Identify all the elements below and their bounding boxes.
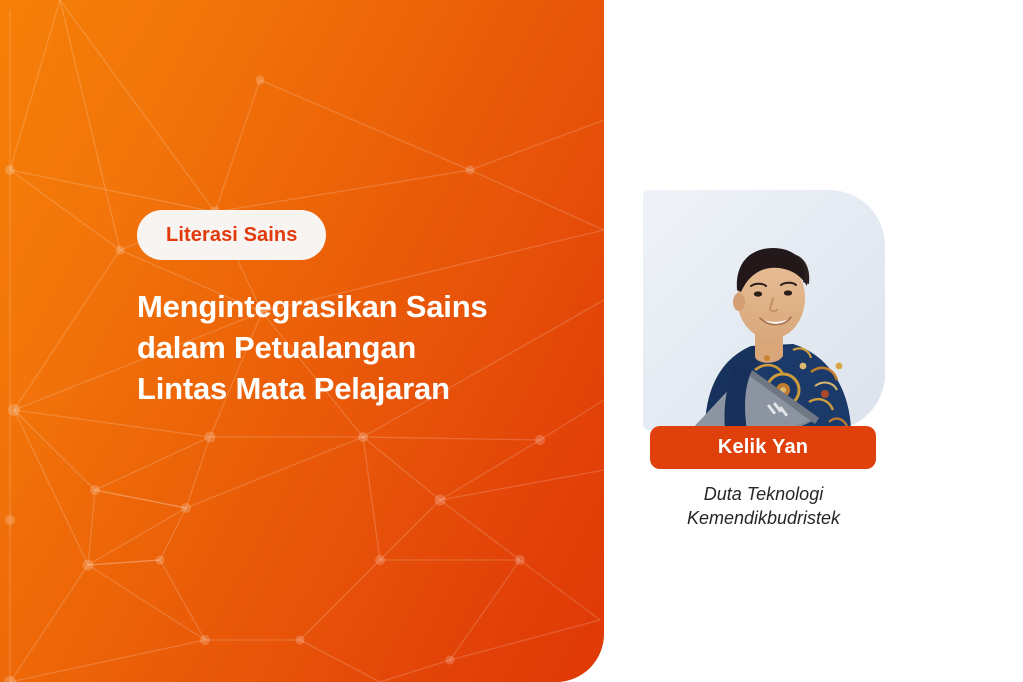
slide-title-line-1: Mengintegrasikan Sains	[137, 286, 577, 327]
slide-title: Mengintegrasikan Sains dalam Petualangan…	[137, 286, 577, 409]
slide-title-line-2: dalam Petualangan	[137, 327, 577, 368]
topic-tag-label: Literasi Sains	[166, 224, 297, 247]
hero-panel: Literasi Sains Mengintegrasikan Sains da…	[0, 0, 604, 682]
speaker-role-line-2: Kemendikbudristek	[634, 506, 893, 530]
speaker-profile	[634, 190, 893, 430]
speaker-role: Duta Teknologi Kemendikbudristek	[634, 482, 893, 530]
slide-title-line-3: Lintas Mata Pelajaran	[137, 368, 577, 409]
speaker-name-badge: Kelik Yan	[650, 426, 876, 469]
topic-tag-pill: Literasi Sains	[137, 210, 326, 260]
speaker-role-line-1: Duta Teknologi	[634, 482, 893, 506]
presentation-slide: Literasi Sains Mengintegrasikan Sains da…	[0, 0, 1023, 682]
speaker-photo	[643, 190, 885, 430]
speaker-name: Kelik Yan	[718, 436, 808, 459]
